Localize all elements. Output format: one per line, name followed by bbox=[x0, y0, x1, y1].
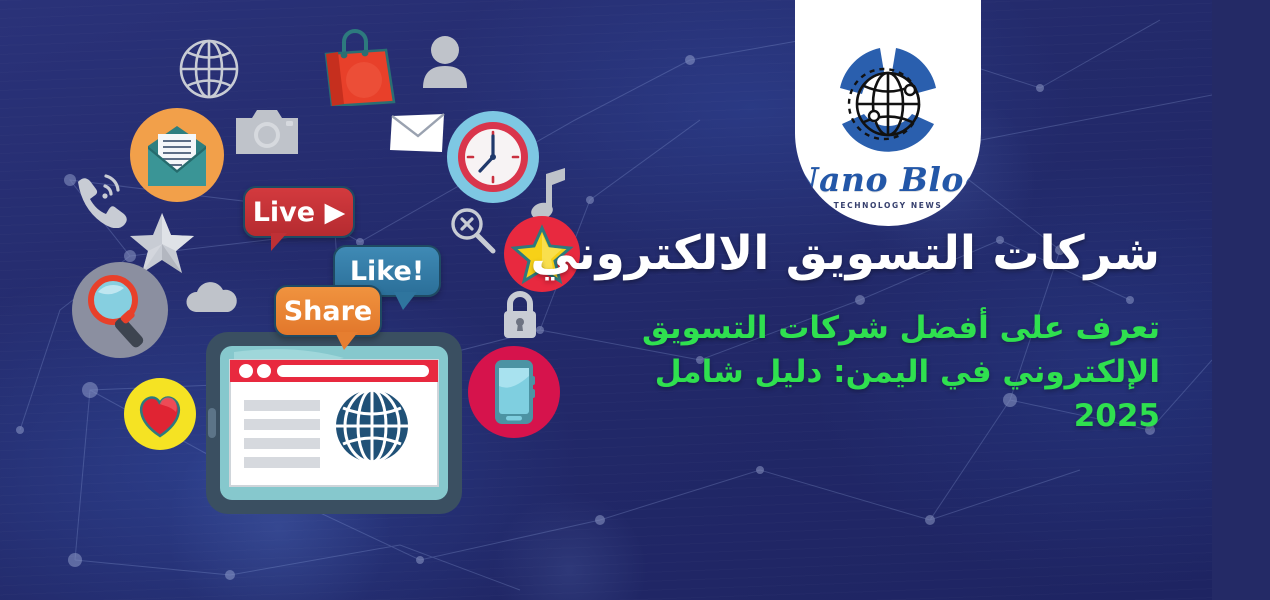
music-note-icon bbox=[530, 166, 570, 222]
magnifier-icon bbox=[72, 262, 168, 358]
shopping-bag-icon bbox=[318, 24, 398, 106]
globe-wireframe-icon bbox=[176, 36, 242, 102]
phone-ring-icon bbox=[70, 170, 128, 228]
envelope-outline-icon bbox=[390, 112, 446, 154]
globe-network-emblem bbox=[826, 46, 950, 164]
cloud-upload-icon bbox=[184, 276, 240, 316]
subheadline: تعرف على أفضل شركات التسويق الإلكتروني ف… bbox=[600, 306, 1160, 438]
tablet-browser-icon bbox=[204, 330, 464, 516]
marketing-banner: Live ▶ Like! Share bbox=[0, 0, 1270, 600]
bubble-like-label: Like! bbox=[350, 256, 424, 287]
smartphone-badge-icon bbox=[468, 346, 560, 438]
email-envelope-icon bbox=[130, 108, 224, 202]
bubble-share[interactable]: Share bbox=[274, 285, 382, 337]
camera-icon bbox=[236, 106, 298, 156]
icon-cluster: Live ▶ Like! Share bbox=[0, 0, 620, 600]
logo-tagline: TECHNOLOGY NEWS bbox=[834, 201, 943, 210]
logo-card[interactable]: Nano Blog TECHNOLOGY NEWS bbox=[795, 0, 981, 226]
bubble-live-label: Live ▶ bbox=[253, 197, 346, 228]
background-right-strip bbox=[1212, 0, 1270, 600]
alarm-clock-icon bbox=[446, 110, 540, 204]
logo-wordmark: Nano Blog bbox=[795, 160, 981, 199]
user-avatar-icon bbox=[420, 34, 470, 88]
heart-badge-icon bbox=[124, 378, 196, 450]
bubble-share-label: Share bbox=[284, 296, 373, 327]
bubble-live[interactable]: Live ▶ bbox=[243, 186, 355, 238]
headline: شركات التسويق الالكتروني bbox=[470, 228, 1160, 281]
padlock-icon bbox=[500, 290, 540, 340]
